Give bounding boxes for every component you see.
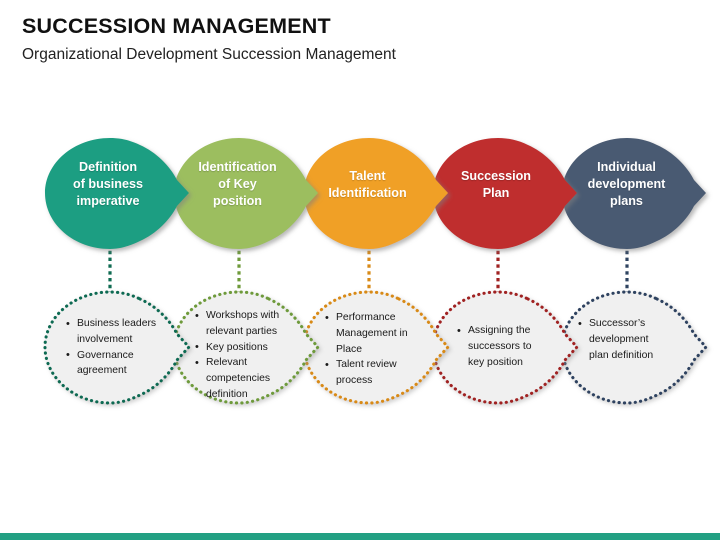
upper-petal-definition-of-business-imperative[interactable] <box>45 138 189 249</box>
succession-process-diagram: Definition of business imperative Identi… <box>0 0 720 540</box>
slide-canvas: SUCCESSION MANAGEMENT Organizational Dev… <box>0 0 720 540</box>
list-item: Relevant competencies definition <box>195 355 289 402</box>
list-item: Assigning the successors to key position <box>457 323 545 370</box>
list-item: Workshops with relevant parties <box>195 308 289 340</box>
bullet-list-identification-of-key-position: Workshops with relevant parties Key posi… <box>195 308 289 403</box>
upper-petal-identification-of-key-position[interactable] <box>174 138 318 249</box>
connector-group <box>110 244 627 298</box>
list-item: Governance agreement <box>66 348 162 380</box>
list-item: Performance Management in Place <box>325 310 415 357</box>
list-item: Successor’s development plan definition <box>578 316 662 363</box>
upper-petal-group <box>45 138 706 249</box>
bullet-list-succession-plan: Assigning the successors to key position <box>457 323 545 370</box>
bottom-accent-bar <box>0 533 720 540</box>
upper-petal-talent-identification[interactable] <box>304 138 448 249</box>
upper-petal-succession-plan[interactable] <box>433 138 577 249</box>
upper-petal-individual-development-plans[interactable] <box>562 138 706 249</box>
bullet-list-talent-identification: Performance Management in Place Talent r… <box>325 310 415 389</box>
bullet-list-individual-development-plans: Successor’s development plan definition <box>578 316 662 363</box>
bullet-list-definition-of-business-imperative: Business leaders involvement Governance … <box>66 316 162 379</box>
list-item: Business leaders involvement <box>66 316 162 348</box>
list-item: Key positions <box>195 340 289 356</box>
list-item: Talent review process <box>325 357 415 389</box>
